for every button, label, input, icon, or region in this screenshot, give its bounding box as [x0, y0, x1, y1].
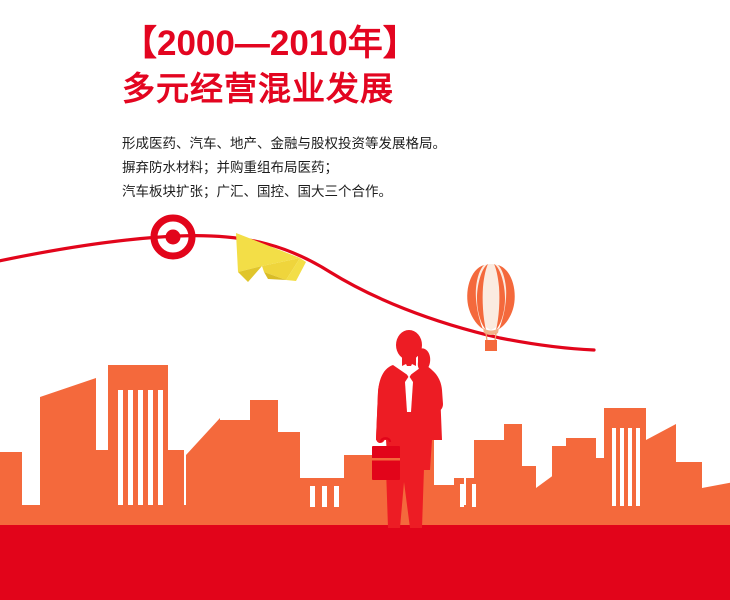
poster-canvas: 【2000—2010年】 多元经营混业发展 形成医药、汽车、地产、金融与股权投资…: [0, 0, 730, 600]
body-paragraph-list: 形成医药、汽车、地产、金融与股权投资等发展格局。 摒弃防水材料；并购重组布局医药…: [122, 132, 642, 204]
businessman-silhouette: [372, 330, 443, 528]
text-block: 【2000—2010年】 多元经营混业发展 形成医药、汽车、地产、金融与股权投资…: [122, 22, 642, 204]
page-title-line2: 多元经营混业发展: [122, 68, 642, 110]
briefcase-line: [372, 458, 400, 461]
body-line-2: 摒弃防水材料；并购重组布局医药；: [122, 156, 642, 180]
body-line-3: 汽车板块扩张；广汇、国控、国大三个合作。: [122, 180, 642, 204]
briefcase-body: [372, 446, 400, 480]
page-title-line1: 【2000—2010年】: [122, 22, 642, 66]
body-line-1: 形成医药、汽车、地产、金融与股权投资等发展格局。: [122, 132, 642, 156]
man-neck: [402, 357, 416, 366]
